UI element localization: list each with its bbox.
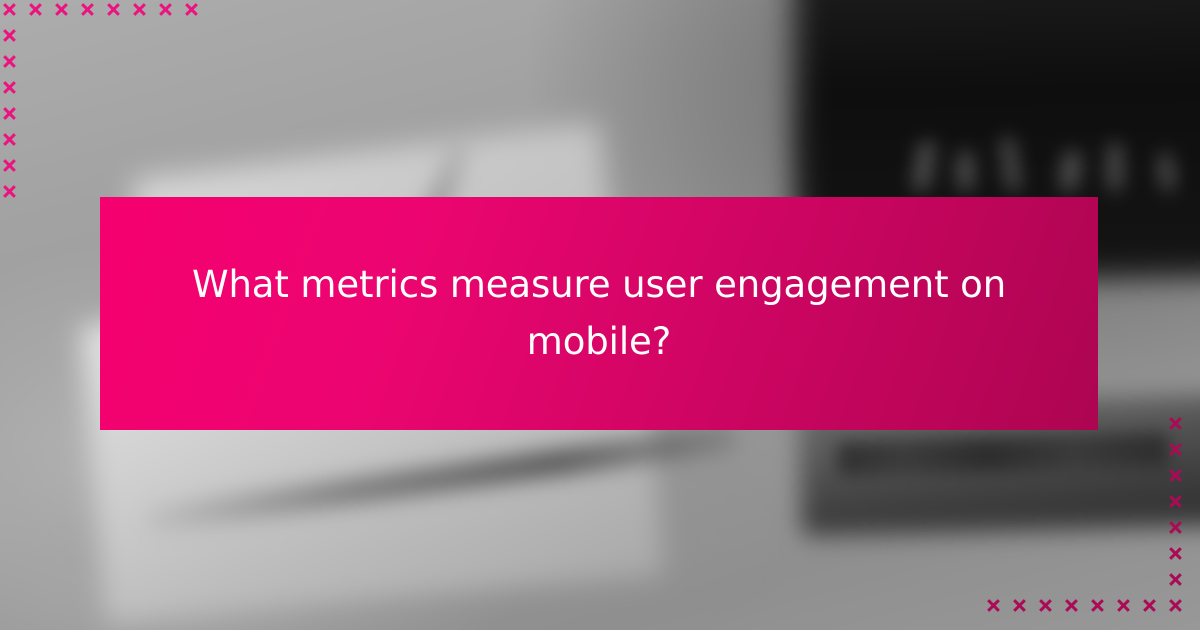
x-mark-icon (1064, 598, 1079, 613)
x-mark-icon (2, 132, 17, 147)
x-mark-icon (2, 54, 17, 69)
x-mark-icon (1168, 468, 1183, 483)
quote-card: What metrics measure user engagement on … (0, 0, 1200, 630)
x-mark-icon (1116, 598, 1131, 613)
x-mark-icon (1090, 598, 1105, 613)
x-mark-icon (184, 2, 199, 17)
x-mark-icon (1142, 598, 1157, 613)
quote-text: What metrics measure user engagement on … (100, 257, 1098, 369)
x-mark-icon (1168, 416, 1183, 431)
x-mark-icon (1168, 442, 1183, 457)
x-mark-icon (80, 2, 95, 17)
x-mark-icon (2, 80, 17, 95)
x-mark-icon (132, 2, 147, 17)
x-mark-icon (1012, 598, 1027, 613)
background-screen-glyphs (912, 130, 1200, 192)
x-mark-icon (2, 184, 17, 199)
x-mark-icon (2, 158, 17, 173)
x-mark-icon (106, 2, 121, 17)
x-mark-icon (1038, 598, 1053, 613)
x-mark-icon (1168, 494, 1183, 509)
x-mark-icon (2, 28, 17, 43)
x-mark-icon (2, 106, 17, 121)
x-mark-icon (2, 2, 17, 17)
x-mark-icon (1168, 546, 1183, 561)
x-mark-icon (158, 2, 173, 17)
quote-banner: What metrics measure user engagement on … (100, 197, 1098, 430)
x-mark-icon (986, 598, 1001, 613)
x-mark-icon (1168, 598, 1183, 613)
x-mark-icon (28, 2, 43, 17)
x-mark-icon (54, 2, 69, 17)
x-mark-icon (1168, 572, 1183, 587)
x-mark-icon (1168, 520, 1183, 535)
